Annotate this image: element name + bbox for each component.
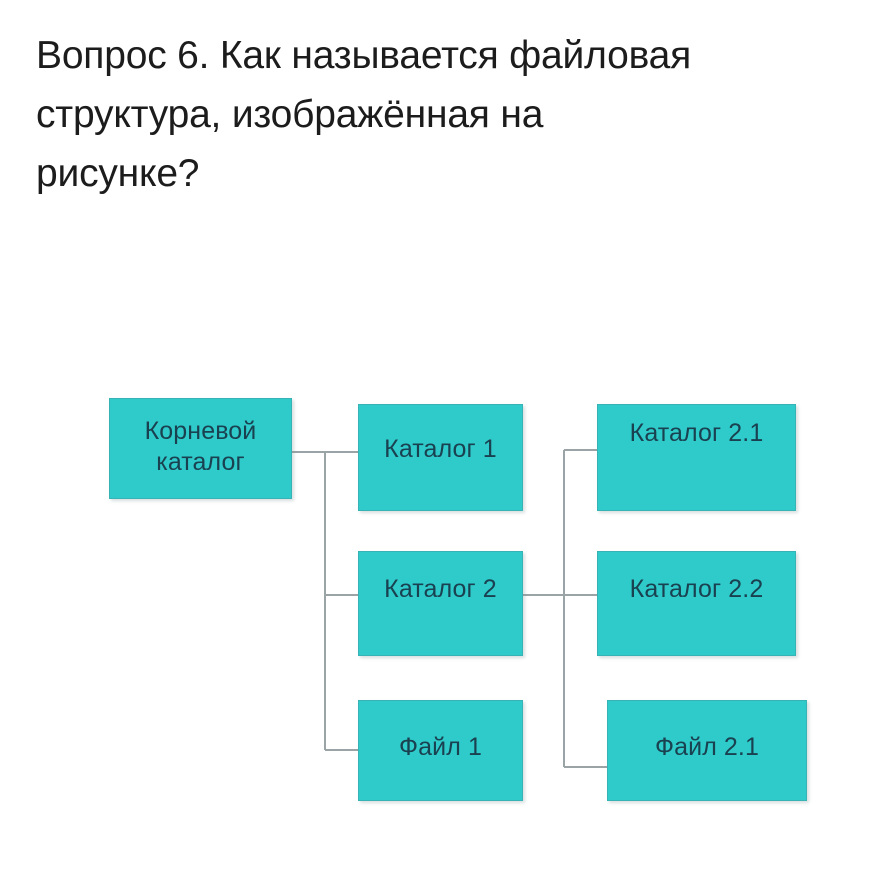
node-root-directory-label-line2: каталог bbox=[156, 448, 245, 476]
node-catalog-1[interactable]: Каталог 1 bbox=[358, 404, 523, 511]
node-catalog-2-2-label: Каталог 2.2 bbox=[598, 575, 795, 604]
node-file-1[interactable]: Файл 1 bbox=[358, 700, 523, 801]
node-catalog-2[interactable]: Каталог 2 bbox=[358, 551, 523, 656]
node-root-directory-label: Корневой каталог bbox=[110, 416, 291, 478]
node-file-1-label: Файл 1 bbox=[359, 733, 522, 762]
node-catalog-2-1-label: Каталог 2.1 bbox=[598, 419, 795, 448]
node-file-2-1-label: Файл 2.1 bbox=[608, 733, 806, 762]
file-structure-diagram: Корневой каталог Каталог 1 Каталог 2 Фай… bbox=[0, 0, 895, 887]
node-catalog-2-label: Каталог 2 bbox=[359, 575, 522, 604]
node-catalog-2-1[interactable]: Каталог 2.1 bbox=[597, 404, 796, 511]
node-catalog-1-label: Каталог 1 bbox=[359, 435, 522, 464]
node-root-directory[interactable]: Корневой каталог bbox=[109, 398, 292, 499]
node-file-2-1[interactable]: Файл 2.1 bbox=[607, 700, 807, 801]
node-catalog-2-2[interactable]: Каталог 2.2 bbox=[597, 551, 796, 656]
node-root-directory-label-line1: Корневой bbox=[145, 417, 257, 445]
